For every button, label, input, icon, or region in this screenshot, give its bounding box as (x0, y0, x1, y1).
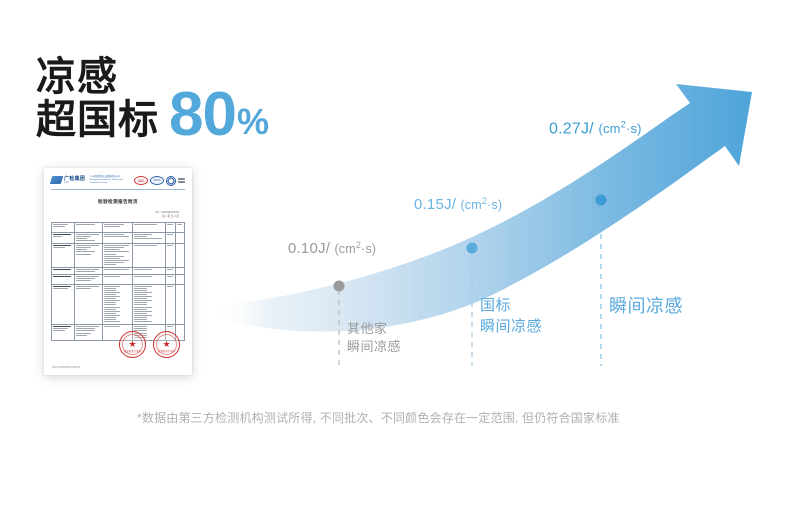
cell-result (133, 284, 166, 325)
headline-line-1: 凉感 (36, 55, 118, 99)
headline-line-2: 超国标 (36, 98, 159, 142)
document-header: 广检集团 GTC 广州检验检测认证集团有限公司 Guangzhou Inspec… (51, 174, 185, 190)
column-header (74, 222, 102, 232)
column-header (175, 222, 184, 232)
cell-sample (74, 275, 102, 284)
logo-company-fullname: 广州检验检测认证集团有限公司 Guangzhou Inspection Test… (89, 176, 127, 185)
table-row (52, 232, 185, 243)
value-label-1: 0.10J/ (cm2·s) (288, 240, 376, 257)
column-header (166, 222, 175, 232)
table-row (52, 275, 185, 284)
stamp-star-icon: ★ (162, 340, 170, 349)
page-number: 第 2 页 共 3 页 (51, 215, 179, 219)
document-page: 广检集团 GTC 广州检验检测认证集团有限公司 Guangzhou Inspec… (44, 168, 192, 375)
cell-sample (74, 284, 102, 325)
report-table (51, 222, 185, 341)
test-report-document[interactable]: 广检集团 GTC 广州检验检测认证集团有限公司 Guangzhou Inspec… (44, 168, 192, 375)
accreditation-badges: CCC CNAS (134, 176, 185, 186)
category-label-2: 国标 瞬间凉感 (480, 296, 542, 337)
cell-verdict (166, 244, 175, 268)
column-header (52, 222, 75, 232)
cell-standard (102, 244, 133, 268)
cell-item (52, 284, 75, 325)
value-label-2: 0.15J/ (cm2·s) (414, 196, 502, 213)
value-number-2: 0.15J/ (414, 196, 456, 213)
column-header (133, 222, 166, 232)
cell-result (133, 268, 166, 275)
logo-company-abbrev: GTC (64, 182, 85, 185)
cell-remark (175, 244, 184, 268)
document-title: 检验检测报告附页 (51, 199, 185, 205)
cell-sample (74, 268, 102, 275)
misc-badge-icon (178, 178, 185, 184)
table-header-row (52, 222, 185, 232)
stamp-star-icon: ★ (128, 340, 136, 349)
cell-sample (74, 232, 102, 243)
category-label-1: 其他家 瞬间凉感 (347, 320, 401, 356)
value-unit-3: (cm2·s) (598, 121, 641, 136)
value-number-3: 0.27J/ (549, 120, 594, 137)
cell-result (133, 232, 166, 243)
cell-verdict (166, 284, 175, 325)
data-point-1 (334, 281, 345, 292)
headline-chinese: 凉感超国标 (36, 56, 159, 142)
data-point-2 (467, 243, 478, 254)
cnas-badge-icon: CNAS (150, 176, 164, 185)
value-unit-2: (cm2·s) (460, 198, 502, 212)
document-footer-note: 本报告未盖检验检测专用章无效 (52, 367, 80, 370)
stamp-icon: ★ 检验检测专用章 (119, 331, 146, 358)
headline: 凉感超国标 80 % (36, 56, 269, 142)
data-point-3 (596, 195, 607, 206)
table-row (52, 284, 185, 325)
cell-standard (102, 232, 133, 243)
cell-standard (102, 275, 133, 284)
cell-remark (175, 275, 184, 284)
column-header (102, 222, 133, 232)
stamp-label: 检验检测专用章 (154, 349, 179, 353)
cell-result (133, 244, 166, 268)
cell-verdict (166, 268, 175, 275)
cell-result (133, 275, 166, 284)
headline-percent-sign: % (237, 104, 269, 140)
ccc-badge-icon: CCC (134, 176, 148, 185)
cell-remark (175, 232, 184, 243)
stamp-icon: ★ 检验检测专用章 (153, 331, 180, 358)
value-label-3: 0.27J/ (cm2·s) (549, 120, 642, 138)
logo-mark-icon (50, 176, 64, 184)
stamp-label: 检验检测专用章 (120, 349, 145, 353)
official-stamps: ★ 检验检测专用章 ★ 检验检测专用章 (119, 331, 180, 358)
cell-verdict (166, 275, 175, 284)
cell-item (52, 325, 75, 341)
cell-item (52, 232, 75, 243)
logo-company-name: 广检集团 (64, 177, 85, 182)
cell-remark (175, 268, 184, 275)
footnote: *数据由第三方检测机构测试所得, 不同批次、不同颜色会存在一定范围, 但仍符合国… (137, 409, 620, 426)
cell-sample (74, 244, 102, 268)
cma-badge-icon (166, 176, 176, 186)
cell-item (52, 275, 75, 284)
cell-standard (102, 284, 133, 325)
cell-item (52, 244, 75, 268)
table-row (52, 268, 185, 275)
cell-item (52, 268, 75, 275)
headline-number: 80 (169, 84, 236, 146)
cell-sample (74, 325, 102, 341)
value-unit-1: (cm2·s) (334, 242, 376, 256)
cell-standard (102, 268, 133, 275)
cell-remark (175, 284, 184, 325)
document-meta: No.: GZ2024XXXXX 第 2 页 共 3 页 (51, 211, 185, 219)
category-label-3: 瞬间凉感 (609, 294, 683, 319)
value-number-1: 0.10J/ (288, 240, 330, 257)
table-row (52, 244, 185, 268)
lab-logo: 广检集团 GTC 广州检验检测认证集团有限公司 Guangzhou Inspec… (51, 176, 127, 185)
cell-verdict (166, 232, 175, 243)
